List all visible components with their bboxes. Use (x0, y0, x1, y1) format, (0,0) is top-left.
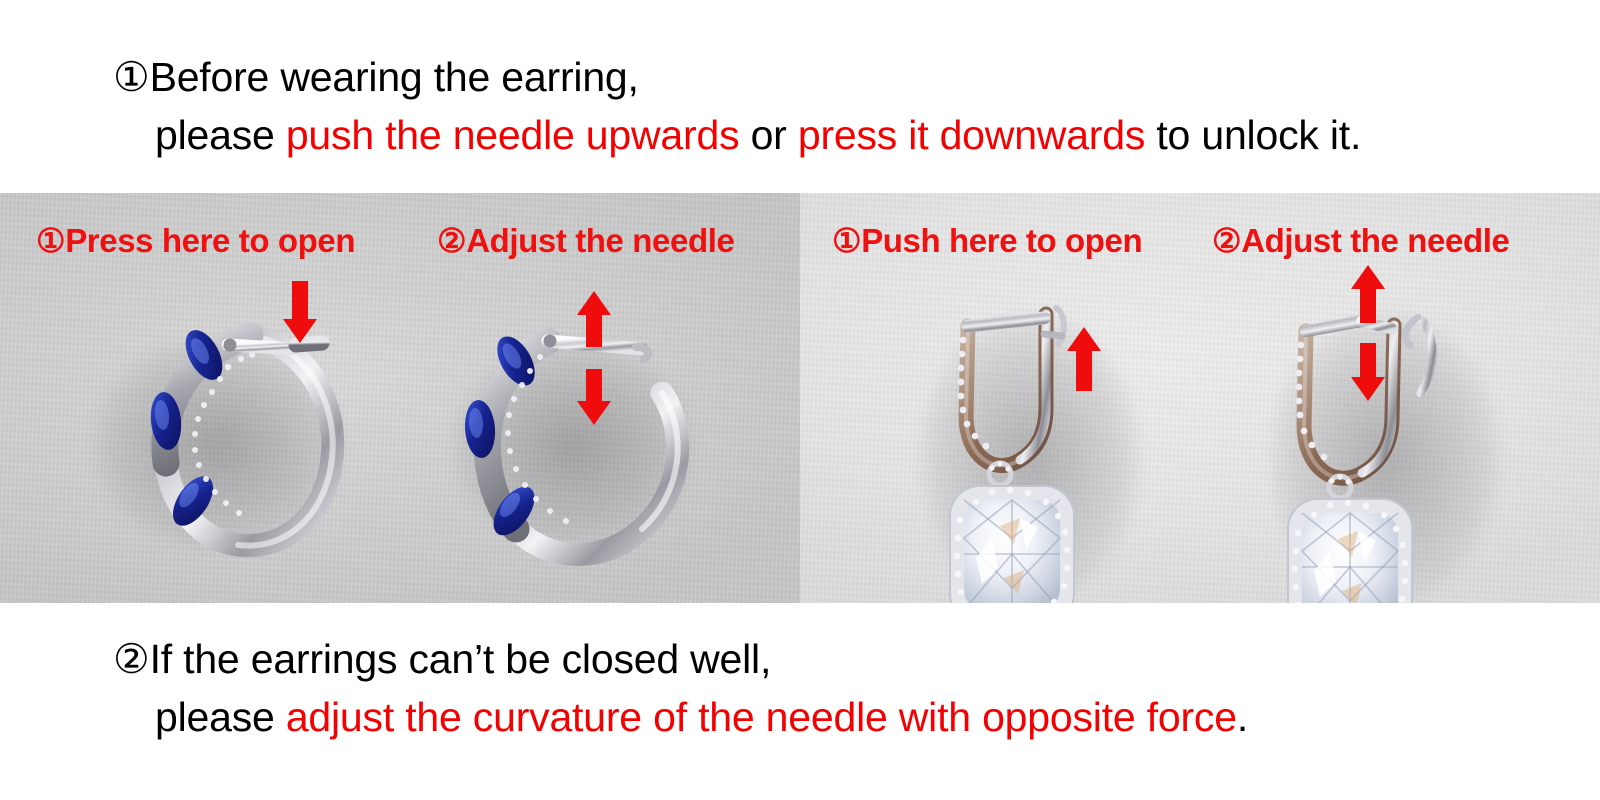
caption-4-text: Adjust the needle (1241, 222, 1509, 259)
arrow-down-adjust-needle-left (577, 369, 611, 425)
instruction-bottom-line2-prefix: please (155, 694, 286, 740)
caption-adjust-the-needle-left: ②Adjust the needle (437, 223, 734, 259)
arrow-up-push-here (1067, 327, 1101, 391)
arrow-up-adjust-needle-left (577, 291, 611, 347)
instruction-bottom-line-2: please adjust the curvature of the needl… (0, 688, 1600, 746)
caption-push-here-to-open: ①Push here to open (832, 223, 1142, 259)
arrow-up-adjust-needle-right (1351, 265, 1385, 323)
instruction-bottom-line1-text: If the earrings can’t be closed well, (150, 636, 772, 682)
instruction-top-line2-conjunction: or (739, 112, 797, 158)
instruction-bottom-highlight-adjust-curvature: adjust the curvature of the needle with … (286, 694, 1237, 740)
arrow-down-adjust-needle-right (1351, 343, 1385, 401)
caption-3-number: ① (832, 222, 861, 259)
caption-2-number: ② (437, 222, 466, 259)
photo-panel-right: ①Push here to open ②Adjust the needle (800, 193, 1600, 603)
instruction-bottom-line-1: ②If the earrings can’t be closed well, (0, 630, 1600, 688)
photo-strip: ①Press here to open ②Adjust the needle (0, 193, 1600, 603)
caption-1-text: Press here to open (65, 222, 355, 259)
caption-1-number: ① (36, 222, 65, 259)
instruction-bottom-line2-suffix: . (1237, 694, 1248, 740)
instruction-top-line2-suffix: to unlock it. (1145, 112, 1361, 158)
step-number-1: ① (113, 48, 150, 106)
instruction-block-bottom: ②If the earrings can’t be closed well, p… (0, 630, 1600, 746)
caption-4-number: ② (1212, 222, 1241, 259)
instruction-top-highlight-press-downwards: press it downwards (798, 112, 1145, 158)
photo-panel-left: ①Press here to open ②Adjust the needle (0, 193, 800, 603)
earring-drop-clear-open (1252, 283, 1532, 603)
arrow-down-press-here (283, 281, 317, 343)
instruction-top-line-2: please push the needle upwards or press … (0, 106, 1600, 164)
earring-drop-clear-closed (908, 288, 1178, 603)
instruction-top-highlight-push-upwards: push the needle upwards (286, 112, 740, 158)
caption-2-text: Adjust the needle (466, 222, 734, 259)
step-number-2: ② (113, 630, 150, 688)
instruction-top-line-1: ①Before wearing the earring, (0, 48, 1600, 106)
instruction-block-top: ①Before wearing the earring, please push… (0, 48, 1600, 164)
earring-hoop-blue-closed (100, 293, 390, 583)
caption-adjust-the-needle-right: ②Adjust the needle (1212, 223, 1509, 259)
caption-3-text: Push here to open (861, 222, 1142, 259)
caption-press-here-to-open: ①Press here to open (36, 223, 355, 259)
instruction-sheet: ①Before wearing the earring, please push… (0, 0, 1600, 800)
instruction-top-line1-text: Before wearing the earring, (150, 54, 639, 100)
instruction-top-line2-prefix: please (155, 112, 286, 158)
